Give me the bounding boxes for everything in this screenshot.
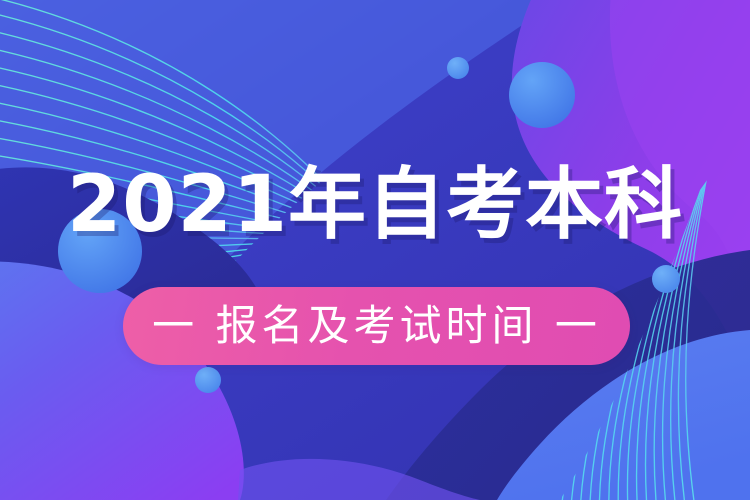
subtitle-label: 一 报名及考试时间 一 — [152, 303, 601, 349]
promo-banner: 2021年自考本科 一 报名及考试时间 一 — [0, 0, 750, 500]
banner-content: 2021年自考本科 一 报名及考试时间 一 — [0, 0, 750, 500]
subtitle-pill[interactable]: 一 报名及考试时间 一 — [123, 287, 630, 365]
page-title: 2021年自考本科 — [0, 157, 750, 253]
